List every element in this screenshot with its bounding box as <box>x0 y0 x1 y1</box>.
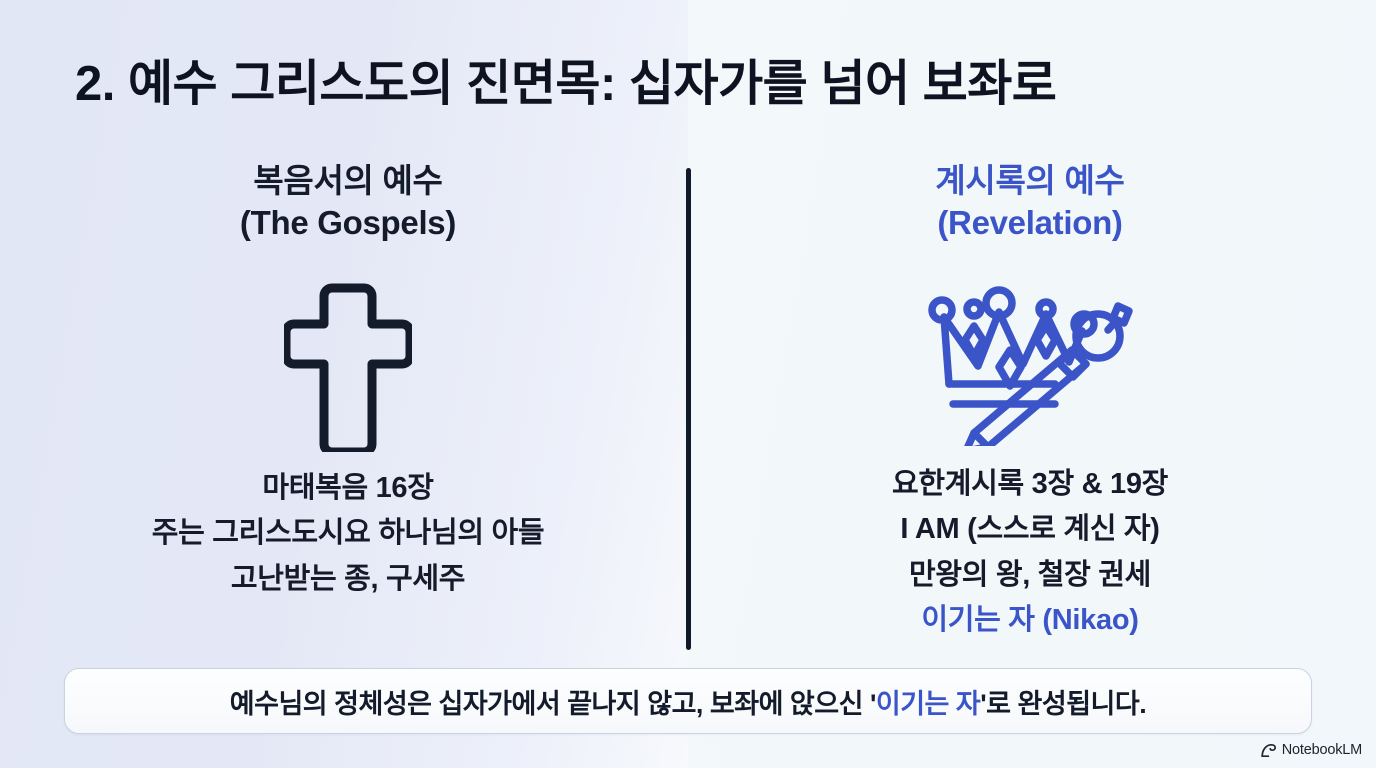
notebooklm-watermark: NotebookLM <box>1260 742 1362 758</box>
slide-canvas: 2. 예수 그리스도의 진면목: 십자가를 넘어 보좌로 복음서의 예수 (Th… <box>0 0 1376 768</box>
right-column: 계시록의 예수 (Revelation) <box>720 160 1340 644</box>
right-body-highlight: 이기는 자 (Nikao) <box>720 598 1340 644</box>
summary-banner-text: 예수님의 정체성은 십자가에서 끝나지 않고, 보좌에 앉으신 '이기는 자'로… <box>230 682 1146 721</box>
slide-title: 2. 예수 그리스도의 진면목: 십자가를 넘어 보좌로 <box>75 56 1305 114</box>
notebooklm-label: NotebookLM <box>1282 742 1362 758</box>
cross-icon <box>284 280 412 452</box>
crown-scepter-icon <box>922 278 1138 446</box>
banner-highlight: 이기는 자 <box>876 689 980 719</box>
banner-suffix: '로 완성됩니다. <box>980 689 1146 719</box>
right-column-body: 요한계시록 3장 & 19장 I AM (스스로 계신 자) 만왕의 왕, 철장… <box>720 462 1340 644</box>
right-column-heading: 계시록의 예수 (Revelation) <box>720 160 1340 244</box>
left-column-heading: 복음서의 예수 (The Gospels) <box>38 160 658 244</box>
left-body-line: 고난받는 종, 구세주 <box>38 557 658 603</box>
left-body-line: 주는 그리스도시요 하나님의 아들 <box>38 511 658 557</box>
left-column: 복음서의 예수 (The Gospels) 마태복음 16장 주는 그리스도시요… <box>38 160 658 602</box>
right-body-line: I AM (스스로 계신 자) <box>720 507 1340 553</box>
crown-scepter-icon-container <box>720 262 1340 462</box>
banner-prefix: 예수님의 정체성은 십자가에서 끝나지 않고, 보좌에 앉으신 ' <box>230 689 876 719</box>
notebooklm-logo-icon <box>1260 743 1277 758</box>
summary-banner: 예수님의 정체성은 십자가에서 끝나지 않고, 보좌에 앉으신 '이기는 자'로… <box>64 668 1312 734</box>
cross-icon-container <box>38 266 658 466</box>
right-body-line: 만왕의 왕, 철장 권세 <box>720 553 1340 599</box>
column-divider <box>686 168 691 650</box>
left-column-body: 마태복음 16장 주는 그리스도시요 하나님의 아들 고난받는 종, 구세주 <box>38 466 658 603</box>
left-body-line: 마태복음 16장 <box>38 466 658 512</box>
right-body-line: 요한계시록 3장 & 19장 <box>720 462 1340 508</box>
